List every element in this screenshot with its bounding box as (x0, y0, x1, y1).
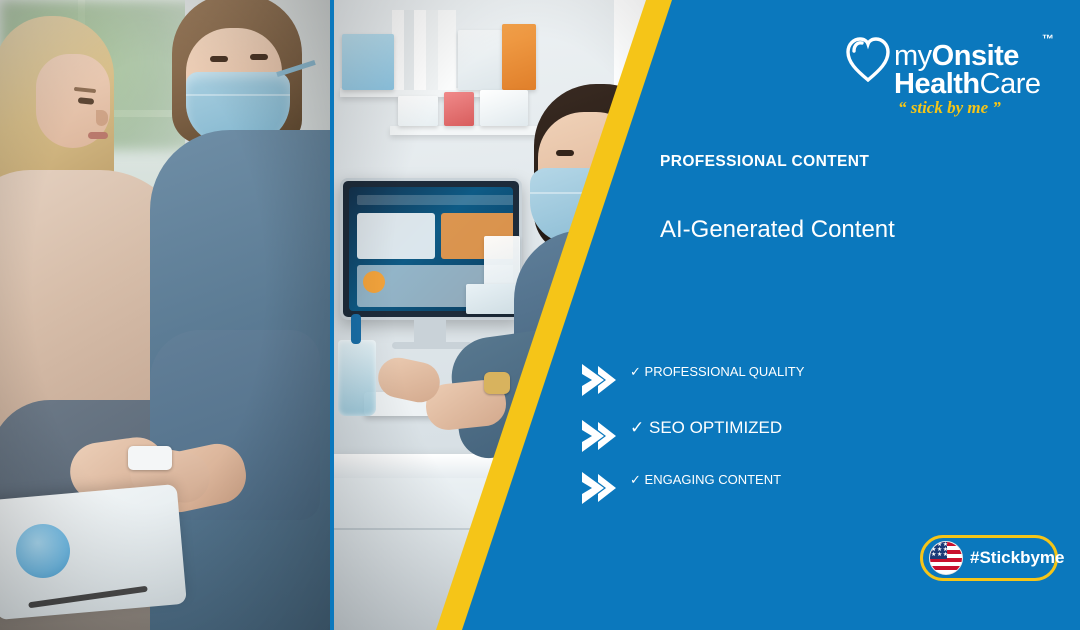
badge-hashtag: #Stickbyme (970, 548, 1065, 568)
marketing-banner: myOnsite ™ HealthCare “ stick by me ” PR… (0, 0, 1080, 630)
logo-text-line2: HealthCare (894, 68, 1041, 101)
feature-text-1: PROFESSIONAL QUALITY (645, 364, 805, 379)
feature-label-1: ✓ PROFESSIONAL QUALITY (630, 364, 990, 380)
feature-item-1: ✓ PROFESSIONAL QUALITY (580, 358, 1000, 406)
chevron-arrow-icon (580, 362, 622, 398)
feature-label-3: ✓ ENGAGING CONTENT (630, 472, 990, 488)
stickbyme-badge[interactable]: ★★★★★★★★★ #Stickbyme (920, 535, 1058, 581)
feature-list: ✓ PROFESSIONAL QUALITY ✓ SEO OPTIMIZED ✓… (580, 358, 1000, 520)
feature-text-2: SEO OPTIMIZED (649, 418, 782, 437)
photo-nurse-with-patient (0, 0, 330, 630)
check-icon-3: ✓ (630, 472, 641, 487)
photo-vignette (0, 0, 330, 630)
flag-stars: ★★★★★★★★★ (931, 543, 946, 558)
us-flag-icon: ★★★★★★★★★ (929, 541, 963, 575)
heart-outline-icon (846, 34, 890, 82)
chevron-arrow-icon (580, 470, 622, 506)
brand-logo: myOnsite ™ HealthCare “ stick by me ” (846, 20, 1058, 110)
logo-trademark: ™ (1042, 32, 1054, 46)
logo-health: Health (894, 68, 980, 100)
logo-care: Care (980, 68, 1041, 100)
feature-text-3: ENGAGING CONTENT (645, 472, 782, 487)
check-icon-2: ✓ (630, 418, 644, 437)
check-icon-1: ✓ (630, 364, 641, 379)
feature-item-2: ✓ SEO OPTIMIZED (580, 412, 1000, 460)
feature-label-2: ✓ SEO OPTIMIZED (630, 418, 990, 439)
logo-tagline: “ stick by me ” (898, 98, 1001, 118)
kicker-text: PROFESSIONAL CONTENT (660, 152, 980, 172)
headline-text: AI-Generated Content (660, 214, 990, 246)
chevron-arrow-icon (580, 418, 622, 454)
feature-item-3: ✓ ENGAGING CONTENT (580, 466, 1000, 514)
